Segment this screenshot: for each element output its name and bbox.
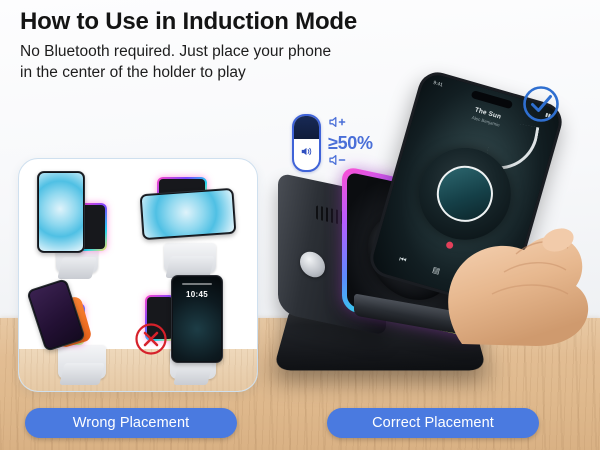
volume-level-label: ≥50% — [328, 134, 373, 152]
hand-graphic — [408, 206, 600, 346]
phone-screen — [142, 190, 235, 238]
previous-track-icon[interactable]: ⏮ — [398, 254, 408, 266]
list-item — [31, 169, 123, 273]
speaker-minus-icon — [328, 153, 350, 171]
infographic-canvas: How to Use in Induction Mode No Bluetoot… — [0, 0, 600, 450]
x-circle-icon — [134, 322, 168, 356]
subtitle-line-1: No Bluetooth required. Just place your p… — [20, 43, 331, 60]
status-bar — [182, 283, 213, 285]
stand-leg — [173, 363, 212, 385]
phone-device — [140, 188, 237, 240]
header: How to Use in Induction Mode No Bluetoot… — [20, 8, 450, 84]
phone-device — [37, 171, 85, 253]
list-item — [137, 173, 243, 273]
volume-readout: ≥50% — [328, 115, 373, 171]
check-circle-icon — [521, 84, 561, 124]
phone-device: 10:45 — [171, 275, 223, 363]
page-title: How to Use in Induction Mode — [20, 8, 450, 36]
status-time: 9:41 — [432, 80, 443, 88]
speaker-icon — [300, 144, 314, 162]
phone-screen: 10:45 — [173, 277, 221, 361]
remote-top — [294, 116, 319, 139]
lock-screen-time: 10:45 — [173, 290, 221, 299]
speaker-plus-icon — [328, 115, 350, 133]
hand-holding-phone: 9:41 ▮▮ The Sun Alec Benjamin ⏮ ▤ ❙❙ — [386, 78, 600, 340]
wrong-placement-button[interactable]: Wrong Placement — [25, 408, 237, 438]
correct-placement-button[interactable]: Correct Placement — [327, 408, 539, 438]
subtitle-line-2: in the center of the holder to play — [20, 64, 246, 81]
phone-screen — [29, 281, 84, 350]
remote-control-icon — [292, 114, 321, 172]
phone-device — [26, 278, 86, 352]
volume-indicator: ≥50% — [292, 114, 373, 172]
wrong-placement-panel: 10:45 — [18, 158, 258, 392]
list-item — [33, 275, 131, 379]
phone-screen — [39, 173, 83, 251]
stand-leg — [59, 363, 104, 385]
